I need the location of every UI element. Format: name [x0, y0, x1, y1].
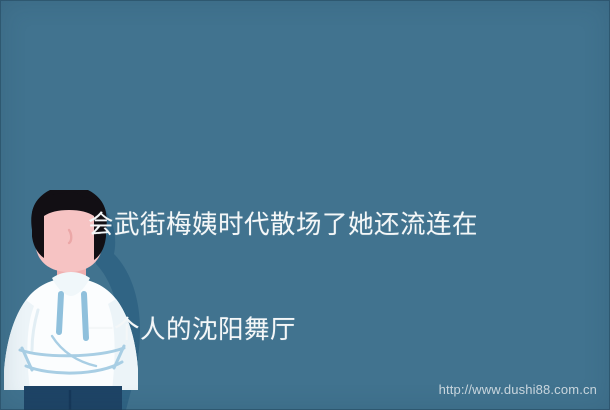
drawstring-left — [59, 294, 61, 332]
watermark-url: http://www.dushi88.com.cn — [439, 382, 597, 397]
headline-line-2: 一个人的沈阳舞厅 — [88, 313, 540, 348]
hair-left-side — [32, 216, 44, 258]
promo-banner: 会武街梅姨时代散场了她还流连在 一个人的沈阳舞厅 http://www.dush… — [0, 0, 610, 410]
drawstring-right — [84, 294, 86, 338]
headline-line-1: 会武街梅姨时代散场了她还流连在 — [88, 208, 540, 243]
headline: 会武街梅姨时代散场了她还流连在 一个人的沈阳舞厅 — [88, 138, 540, 410]
